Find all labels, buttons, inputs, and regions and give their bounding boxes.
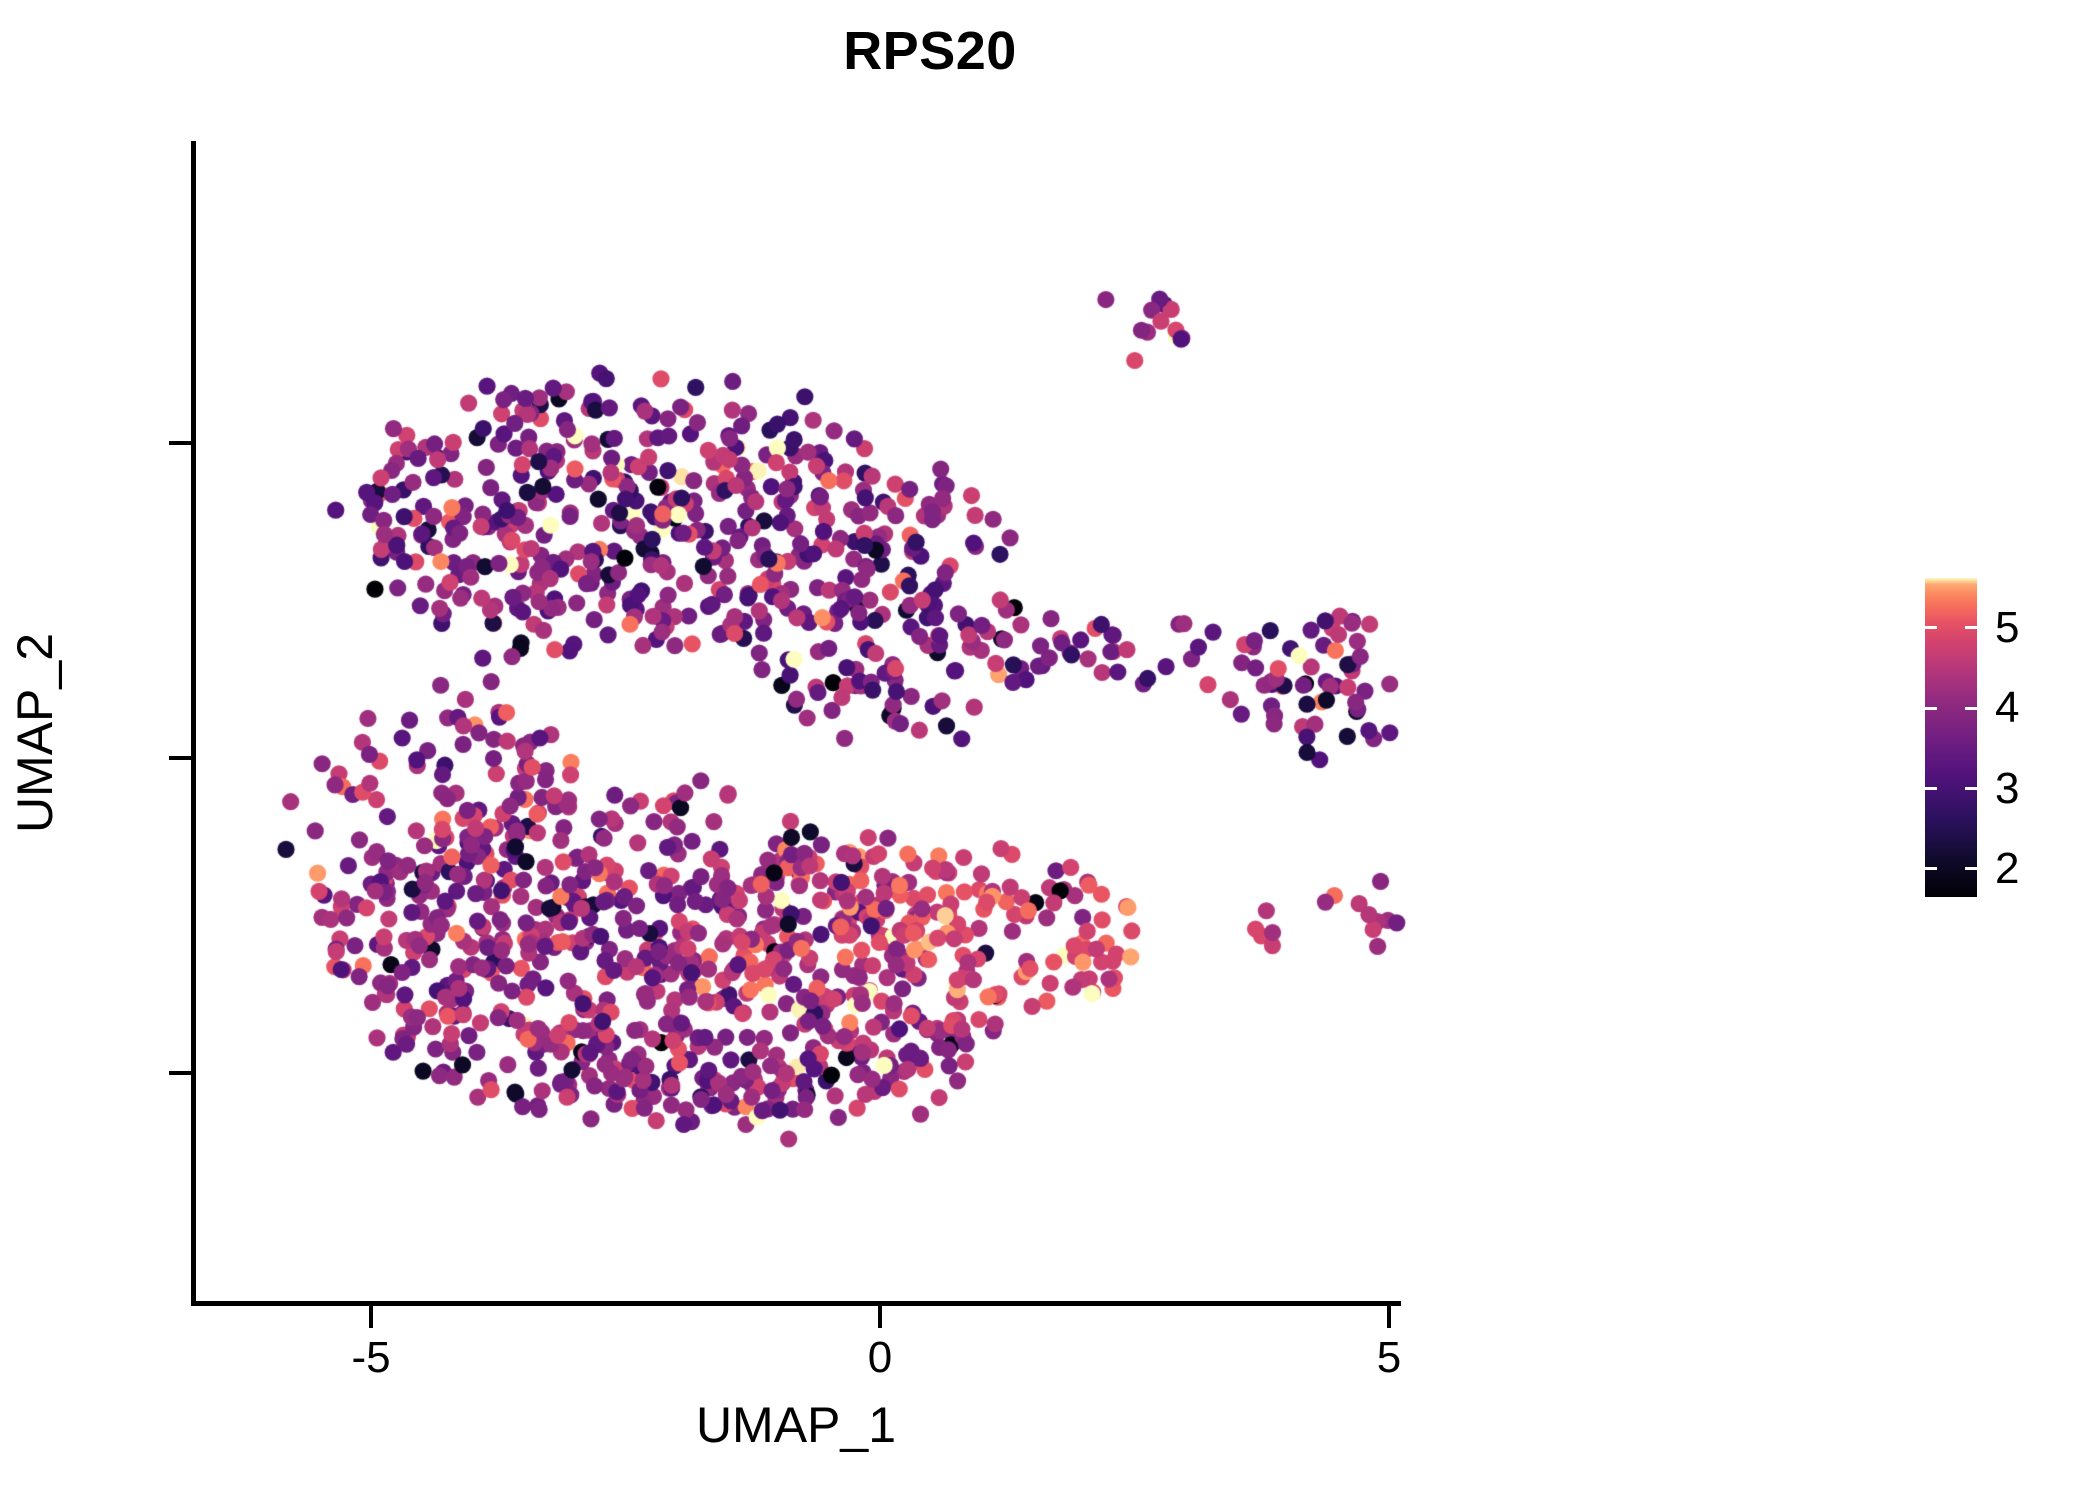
colorbar-tick-label: 5 xyxy=(1995,606,2019,650)
x-tick-label: -5 xyxy=(311,1336,431,1380)
y-tick-mark xyxy=(169,441,191,445)
colorbar-tick-mark xyxy=(1925,867,1937,870)
colorbar-tick-mark xyxy=(1925,787,1937,790)
x-tick-mark xyxy=(369,1306,373,1328)
colorbar-tick-mark xyxy=(1925,707,1937,710)
x-axis-title: UMAP_1 xyxy=(191,1396,1401,1454)
colorbar-tick-label: 2 xyxy=(1995,847,2019,891)
x-tick-mark xyxy=(1387,1306,1391,1328)
colorbar-tick-mark xyxy=(1965,867,1977,870)
colorbar-tick-label: 4 xyxy=(1995,686,2019,730)
y-tick-mark xyxy=(169,1071,191,1075)
colorbar-tick-mark xyxy=(1925,626,1937,629)
colorbar-tick-mark xyxy=(1965,707,1977,710)
colorbar-tick-mark xyxy=(1965,626,1977,629)
colorbar-tick-mark xyxy=(1965,787,1977,790)
colorbar-tick-label: 3 xyxy=(1995,767,2019,811)
y-axis-title: UMAP_2 xyxy=(6,433,64,1033)
colorbar-legend: 5432 xyxy=(1925,578,2095,898)
x-tick-label: 5 xyxy=(1329,1336,1449,1380)
plot-root: RPS20 40-4 -505 UMAP_1 UMAP_2 5432 xyxy=(0,0,2100,1500)
y-axis-line xyxy=(191,141,196,1306)
x-tick-mark xyxy=(878,1306,882,1328)
plot-panel: 40-4 -505 UMAP_1 UMAP_2 xyxy=(0,0,2100,1500)
x-tick-label: 0 xyxy=(820,1336,940,1380)
scatter-plot-canvas xyxy=(0,0,2100,1500)
y-tick-mark xyxy=(169,756,191,760)
